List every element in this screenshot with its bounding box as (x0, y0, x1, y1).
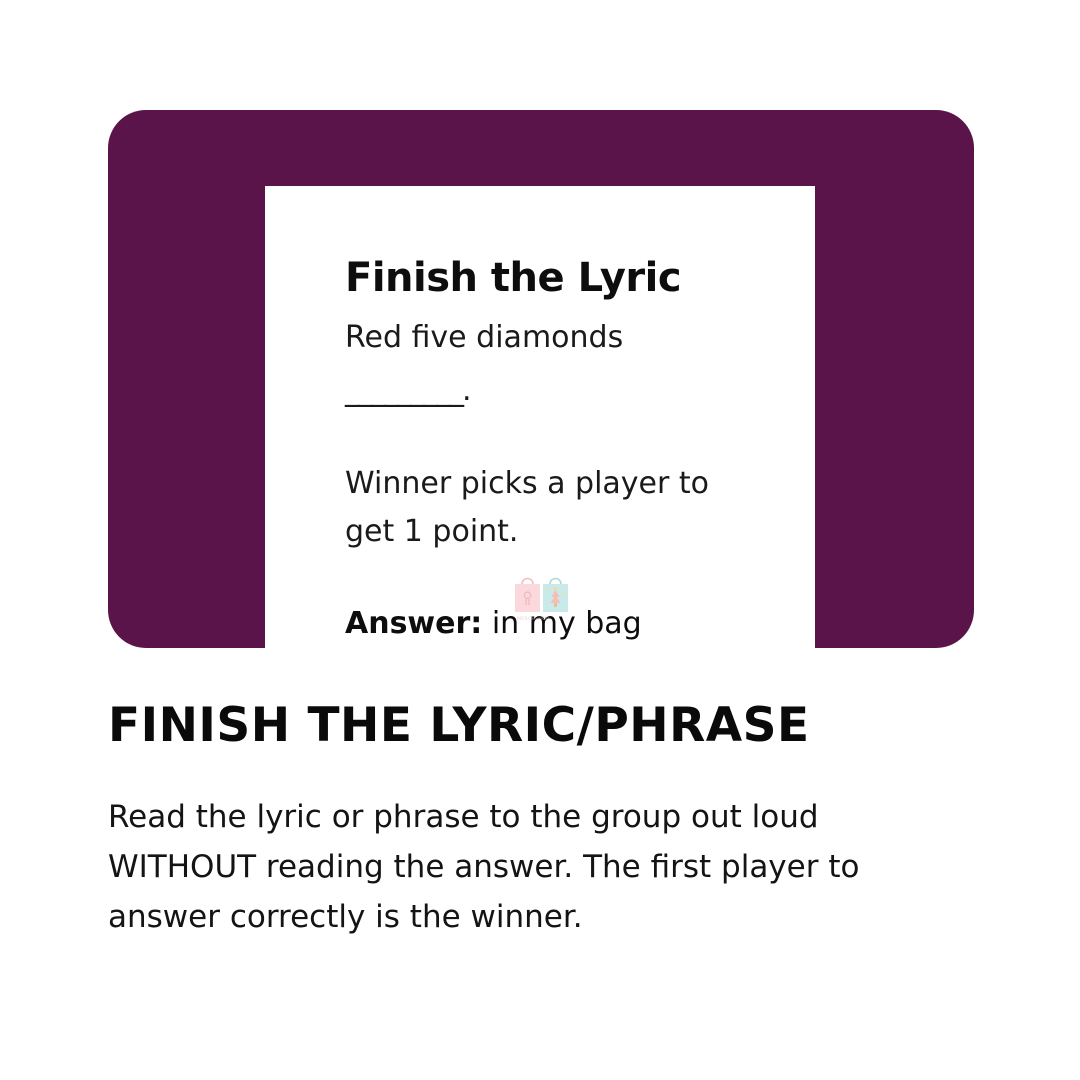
section-body: Read the lyric or phrase to the group ou… (108, 792, 988, 942)
card-blank-line: _________. (345, 376, 805, 406)
card-title: Finish the Lyric (345, 258, 805, 298)
card-answer-label: Answer: (345, 606, 482, 641)
card-preview-frame[interactable]: Finish the Lyric Red five diamonds _____… (108, 110, 974, 648)
card-page: Finish the Lyric Red five diamonds _____… (265, 186, 815, 648)
card-answer-value: in my bag (482, 606, 641, 641)
body-line: WITHOUT reading the answer. The first pl… (108, 842, 988, 892)
body-line: Read the lyric or phrase to the group ou… (108, 792, 988, 842)
section-heading: FINISH THE LYRIC/PHRASE (108, 702, 1008, 749)
card-prompt-text: Red five diamonds (345, 322, 805, 354)
card-answer-row: MERCHSHOP Answer: in my bag (345, 609, 805, 639)
card-rule-text: Winner picks a player to get 1 point. (345, 460, 745, 557)
body-line: answer correctly is the winner. (108, 892, 988, 942)
card-page-content: Finish the Lyric Red five diamonds _____… (345, 186, 805, 639)
